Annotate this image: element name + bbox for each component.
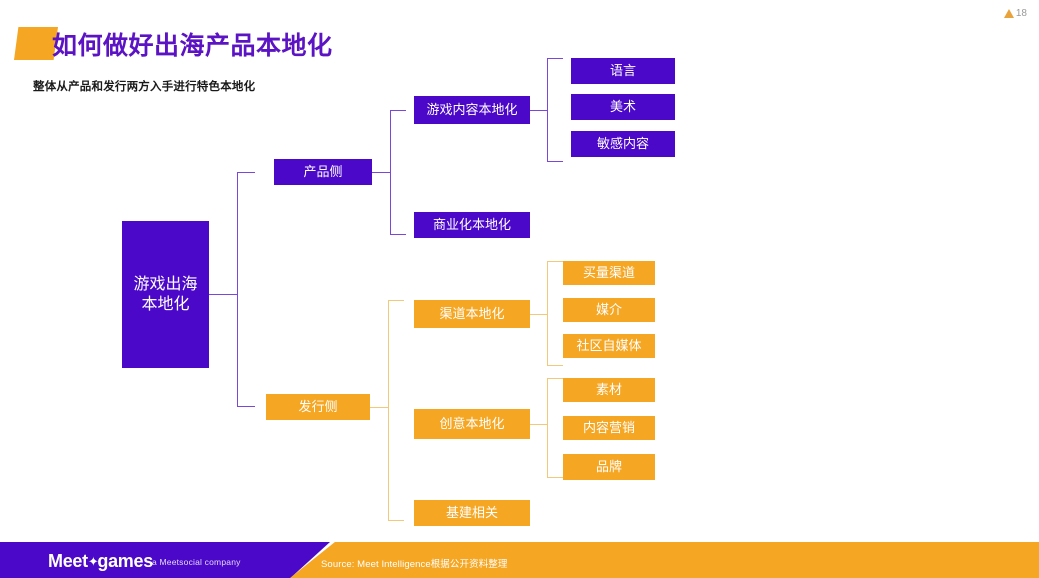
- node-root[interactable]: 游戏出海 本地化: [122, 221, 209, 368]
- node-ua-channel[interactable]: 买量渠道: [563, 261, 655, 285]
- node-infrastructure[interactable]: 基建相关: [414, 500, 530, 526]
- slide-canvas: 如何做好出海产品本地化 整体从产品和发行两方入手进行特色本地化 18 游戏出海 …: [0, 0, 1039, 578]
- connector-root-brace: [237, 172, 255, 407]
- connector-creative-brace: [547, 378, 563, 478]
- connector-publishing-stub: [370, 407, 388, 408]
- source-note: Source: Meet Intelligence根据公开资料整理: [321, 556, 508, 570]
- connector-game-content-brace: [547, 58, 563, 162]
- node-creative-localization[interactable]: 创意本地化: [414, 409, 530, 439]
- connector-creative-stub: [530, 424, 547, 425]
- node-language[interactable]: 语言: [571, 58, 675, 84]
- node-content-marketing[interactable]: 内容营销: [563, 416, 655, 440]
- node-monetization-localization[interactable]: 商业化本地化: [414, 212, 530, 238]
- node-sensitive-content[interactable]: 敏感内容: [571, 131, 675, 157]
- logo-tagline: a Meetsocial company: [152, 557, 241, 567]
- node-brand[interactable]: 品牌: [563, 454, 655, 480]
- connector-channel-stub: [530, 314, 547, 315]
- node-game-content-localization[interactable]: 游戏内容本地化: [414, 96, 530, 124]
- footer-bar: Meet✦games a Meetsocial company Source: …: [0, 542, 1039, 578]
- node-creative-assets[interactable]: 素材: [563, 378, 655, 402]
- logo-text-left: Meet: [48, 551, 88, 572]
- connector-channel-brace: [547, 261, 563, 366]
- meetgames-logo: Meet✦games: [48, 551, 153, 572]
- node-media[interactable]: 媒介: [563, 298, 655, 322]
- logo-text-right: games: [97, 551, 153, 572]
- node-channel-localization[interactable]: 渠道本地化: [414, 300, 530, 328]
- node-art[interactable]: 美术: [571, 94, 675, 120]
- connector-product-stub: [372, 172, 390, 173]
- mindmap-diagram: 游戏出海 本地化 产品侧 游戏内容本地化 语言 美术 敏感内容 商业化本地化 发…: [0, 0, 1039, 578]
- node-product-side[interactable]: 产品侧: [274, 159, 372, 185]
- connector-root-stub: [209, 294, 237, 295]
- connector-product-brace: [390, 110, 406, 235]
- node-community-self-media[interactable]: 社区自媒体: [563, 334, 655, 358]
- connector-publishing-brace: [388, 300, 404, 521]
- node-publishing-side[interactable]: 发行侧: [266, 394, 370, 420]
- connector-game-content-stub: [530, 110, 547, 111]
